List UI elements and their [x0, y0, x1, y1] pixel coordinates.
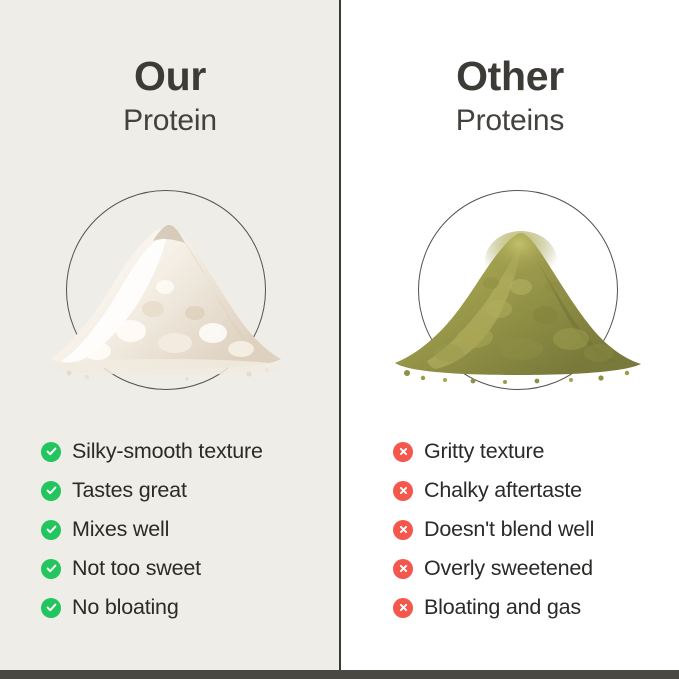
our-protein-benefit-list: Silky-smooth texture Tastes great Mixes … — [41, 432, 263, 627]
list-item-label: Tastes great — [72, 478, 187, 503]
list-item-label: Chalky aftertaste — [424, 478, 582, 503]
green-protein-powder-image — [387, 191, 649, 389]
x-circle-icon — [393, 559, 413, 579]
list-item-label: Doesn't blend well — [424, 517, 594, 542]
panel-our-protein: Our Protein — [0, 0, 340, 670]
list-item: Chalky aftertaste — [393, 471, 594, 510]
comparison-infographic: Our Protein — [0, 0, 679, 679]
check-circle-icon — [41, 442, 61, 462]
white-protein-powder-image — [35, 191, 297, 389]
list-item: Silky-smooth texture — [41, 432, 263, 471]
list-item-label: Silky-smooth texture — [72, 439, 263, 464]
list-item: Not too sweet — [41, 549, 263, 588]
check-circle-icon — [41, 559, 61, 579]
list-item: Bloating and gas — [393, 588, 594, 627]
other-proteins-heading-sub: Proteins — [341, 106, 679, 136]
list-item-label: No bloating — [72, 595, 179, 620]
panel-other-proteins: Other Proteins — [341, 0, 679, 670]
list-item: Gritty texture — [393, 432, 594, 471]
check-circle-icon — [41, 598, 61, 618]
other-proteins-heading: Other Proteins — [341, 56, 679, 136]
list-item-label: Bloating and gas — [424, 595, 581, 620]
our-protein-product-circle — [66, 190, 266, 390]
list-item: Tastes great — [41, 471, 263, 510]
list-item: Overly sweetened — [393, 549, 594, 588]
list-item-label: Overly sweetened — [424, 556, 593, 581]
other-proteins-product-circle — [418, 190, 618, 390]
list-item-label: Not too sweet — [72, 556, 201, 581]
x-circle-icon — [393, 520, 413, 540]
list-item: No bloating — [41, 588, 263, 627]
bottom-bar — [0, 670, 679, 679]
list-item: Mixes well — [41, 510, 263, 549]
x-circle-icon — [393, 598, 413, 618]
our-protein-heading: Our Protein — [0, 56, 340, 136]
our-protein-heading-main: Our — [0, 56, 340, 97]
other-proteins-drawback-list: Gritty texture Chalky aftertaste Doesn't… — [393, 432, 594, 627]
x-circle-icon — [393, 442, 413, 462]
check-circle-icon — [41, 520, 61, 540]
panel-divider — [339, 0, 341, 670]
our-protein-heading-sub: Protein — [0, 106, 340, 136]
list-item-label: Gritty texture — [424, 439, 544, 464]
x-circle-icon — [393, 481, 413, 501]
list-item: Doesn't blend well — [393, 510, 594, 549]
list-item-label: Mixes well — [72, 517, 169, 542]
check-circle-icon — [41, 481, 61, 501]
other-proteins-heading-main: Other — [341, 56, 679, 97]
